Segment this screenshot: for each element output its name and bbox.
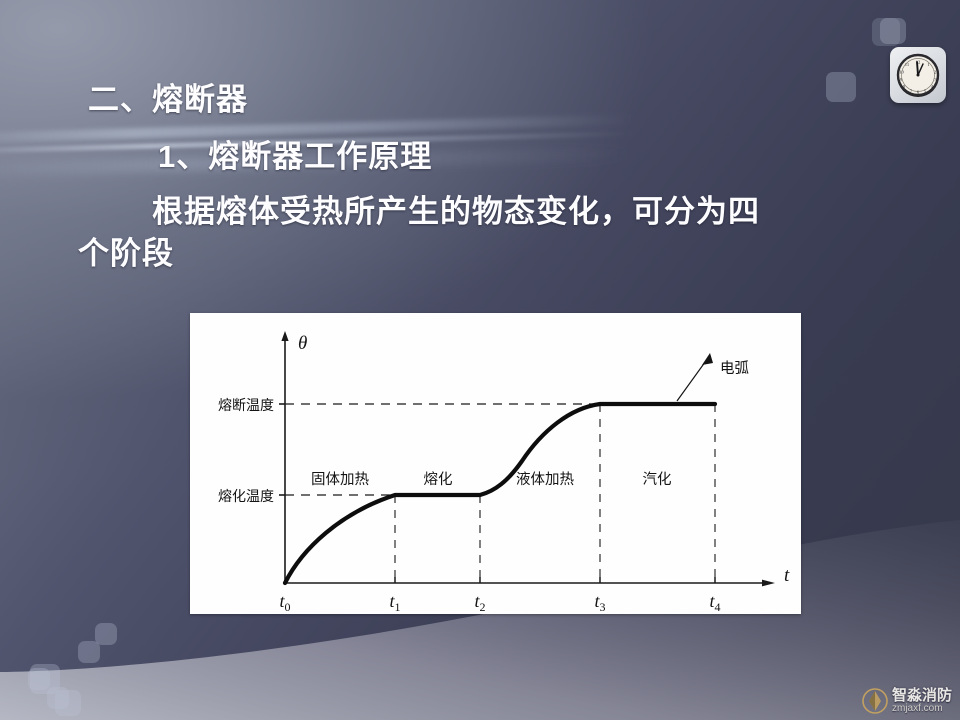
watermark-name: 智淼消防 [892,688,952,703]
y-axis-label: θ [298,333,307,354]
slide-heading: 二、熔断器 [88,74,248,119]
annotation-label-arc: 电弧 [720,360,749,377]
x-axis-arrow [762,580,775,587]
x-axis-label: t [784,565,790,586]
slide-subheading: 1、熔断器工作原理 [158,131,432,176]
x-tick-label-t0: t0 [279,591,290,614]
rounded-square-decor [872,18,900,46]
svg-text:10: 10 [899,70,904,75]
x-tick-label-t1: t1 [389,591,400,614]
x-tick-label-t3: t3 [594,591,605,614]
clock-icon: 121 23 45 67 89 1011 [890,47,946,103]
phase-label-solid-heating: 固体加热 [311,471,369,488]
phase-label-melting: 熔化 [424,471,453,488]
x-tick-label-t2: t2 [474,591,485,614]
body-text-line-1: 根据熔体受热所产生的物态变化，可分为四 [152,186,760,231]
svg-text:11: 11 [905,62,910,67]
diamond-logo-icon [862,688,888,714]
rounded-square-decor [78,641,100,663]
phase-label-liquid-heating: 液体加热 [516,471,574,488]
rounded-square-decor [55,690,81,716]
y-tick-label-melting: 熔化温度 [218,489,274,505]
x-tick-label-t4: t4 [709,591,720,614]
rounded-square-decor [30,664,60,694]
temperature-curve-chart: θ t 熔断温度 熔化温度 t0 [190,313,801,614]
chart-panel: θ t 熔断温度 熔化温度 t0 [190,313,801,614]
watermark-url: zmjaxf.com [892,704,952,714]
rounded-square-decor [95,623,117,645]
temperature-curve-series [285,404,715,583]
y-tick-label-fusing: 熔断温度 [218,398,274,414]
arc-leader-arrow [702,353,713,365]
y-axis-arrow [281,331,288,341]
slide: 121 23 45 67 89 1011 二、熔断器 1、熔断器工作原理 根据熔… [0,0,960,720]
watermark: 智淼消防 zmjaxf.com [862,688,952,714]
phase-label-vaporizing: 汽化 [643,471,672,488]
body-text-line-2: 个阶段 [78,228,174,273]
rounded-square-decor [826,72,856,102]
